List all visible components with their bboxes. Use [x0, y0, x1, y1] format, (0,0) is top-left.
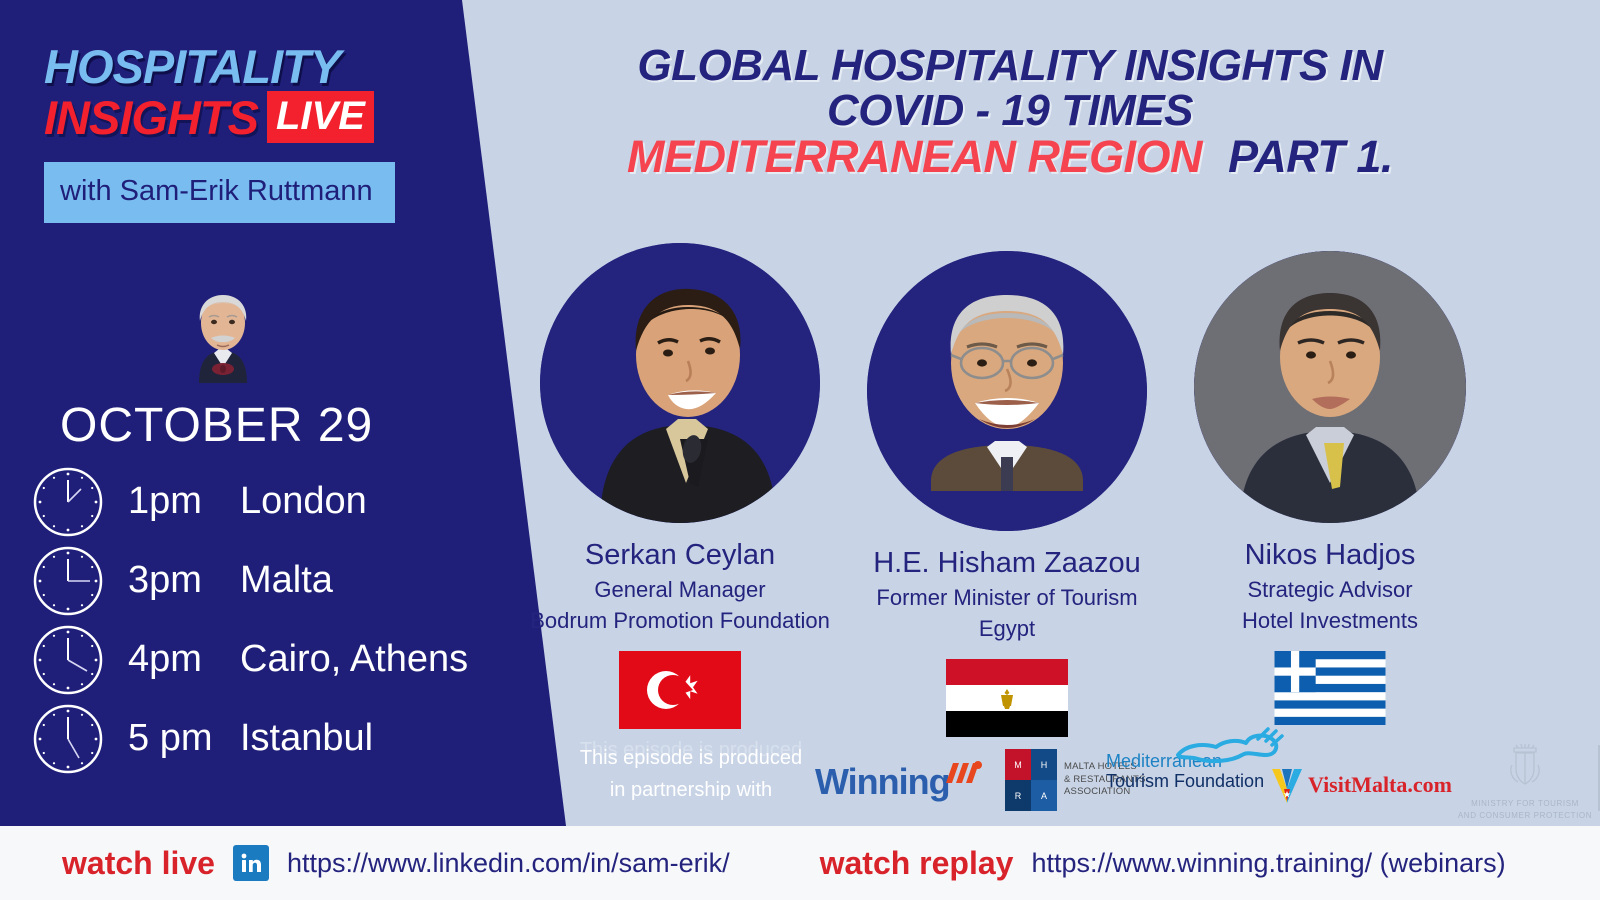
mhra-cell: H	[1031, 749, 1057, 780]
watch-live-group: watch live https://www.linkedin.com/in/s…	[62, 845, 730, 882]
mhra-cell: R	[1005, 780, 1031, 811]
timezone-row: 1pm London	[30, 462, 468, 541]
avatar	[1194, 251, 1466, 523]
avatar	[540, 243, 820, 523]
mediterranean-sea-icon	[1172, 725, 1284, 767]
ministry-logo: MINISTRY FOR TOURISM AND CONSUMER PROTEC…	[1450, 741, 1600, 822]
partnership-text: This episode is produced This episode is…	[576, 742, 806, 806]
speaker-role-line2: Bodrum Promotion Foundation	[530, 608, 830, 634]
ministry-line2: AND CONSUMER PROTECTION	[1450, 810, 1600, 822]
speaker-role-line1: General Manager	[530, 577, 830, 603]
ministry-logo-text: MINISTRY FOR TOURISM AND CONSUMER PROTEC…	[1450, 798, 1600, 822]
clock-icon	[30, 622, 106, 698]
winning-mark-icon	[946, 761, 982, 787]
avatar	[867, 251, 1147, 531]
live-badge: LIVE	[267, 91, 374, 143]
winning-logo: Winning	[815, 761, 982, 803]
greece-flag	[1270, 651, 1390, 725]
time-hour: 5 pm	[128, 717, 240, 760]
turkey-flag	[619, 651, 741, 729]
page-title: GLOBAL HOSPITALITY INSIGHTS IN COVID - 1…	[560, 44, 1460, 180]
watch-replay-group: watch replay https://www.winning.trainin…	[820, 845, 1506, 882]
speaker-role-line1: Former Minister of Tourism	[857, 585, 1157, 611]
mtf-line2: Tourism Foundation	[1106, 771, 1264, 791]
host-name-banner: with Sam-Erik Ruttmann	[44, 162, 395, 223]
malta-coat-of-arms-icon	[1450, 741, 1600, 789]
time-hour: 1pm	[128, 480, 240, 523]
speaker-role-line2: Hotel Investments	[1180, 608, 1480, 634]
headline-line-2: COVID - 19 TIMES	[560, 89, 1460, 134]
brand-logo: HOSPITALITY INSIGHTS LIVE with Sam-Erik …	[44, 44, 444, 223]
watch-replay-label: watch replay	[820, 845, 1014, 882]
brand-insights-row: INSIGHTS LIVE	[44, 91, 444, 143]
winning-logo-text: Winning	[815, 761, 950, 803]
time-city: Cairo, Athens	[240, 638, 468, 681]
time-city: Malta	[240, 559, 333, 602]
speaker-card: H.E. Hisham Zaazou Former Minister of To…	[857, 251, 1157, 742]
speaker-name: H.E. Hisham Zaazou	[857, 547, 1157, 580]
mhra-grid-icon: M H R A	[1005, 749, 1057, 811]
speaker-role-line2: Egypt	[857, 616, 1157, 642]
mhra-cell: A	[1031, 780, 1057, 811]
timezone-row: 5 pm Istanbul	[30, 699, 468, 778]
webinar-poster: HOSPITALITY INSIGHTS LIVE with Sam-Erik …	[0, 0, 1600, 900]
clock-icon	[30, 543, 106, 619]
timezone-row: 3pm Malta	[30, 541, 468, 620]
clock-icon	[30, 701, 106, 777]
brand-hospitality-text: HOSPITALITY	[44, 44, 444, 89]
speaker-name: Nikos Hadjos	[1180, 539, 1480, 572]
headline-part: PART 1.	[1228, 134, 1393, 180]
speaker-role-line1: Strategic Advisor	[1180, 577, 1480, 603]
partner-logo-strip: Winning M H R A MALTA HOTELS & RESTAURAN…	[810, 745, 1600, 823]
replay-url[interactable]: https://www.winning.training/ (webinars)	[1031, 848, 1505, 879]
mhra-cell: M	[1005, 749, 1031, 780]
partnership-line-2: in partnership with	[576, 774, 806, 806]
mediterranean-tourism-foundation-logo: Mediterranean Tourism Foundation	[1106, 751, 1264, 791]
time-city: Istanbul	[240, 717, 373, 760]
time-city: London	[240, 480, 367, 523]
brand-insights-text: INSIGHTS	[44, 95, 258, 140]
time-hour: 3pm	[128, 559, 240, 602]
speaker-card: Nikos Hadjos Strategic Advisor Hotel Inv…	[1180, 251, 1480, 730]
linkedin-icon[interactable]	[233, 845, 269, 881]
clock-icon	[30, 464, 106, 540]
time-hour: 4pm	[128, 638, 240, 681]
host-portrait	[173, 275, 273, 385]
timezone-list: 1pm London 3pm Malta	[30, 462, 468, 778]
headline-line-3: MEDITERRANEAN REGION PART 1.	[560, 134, 1460, 180]
watch-live-label: watch live	[62, 845, 215, 882]
egypt-flag	[946, 659, 1068, 737]
visitmalta-logo: VisitMalta.com	[1270, 767, 1452, 803]
ministry-line1: MINISTRY FOR TOURISM	[1450, 798, 1600, 810]
event-date: OCTOBER 29	[60, 398, 373, 453]
partnership-text-ghost: This episode is produced	[576, 734, 806, 766]
linkedin-url[interactable]: https://www.linkedin.com/in/sam-erik/	[287, 848, 730, 879]
speaker-name: Serkan Ceylan	[530, 539, 830, 572]
speaker-card: Serkan Ceylan General Manager Bodrum Pro…	[530, 243, 830, 734]
visitmalta-v-icon	[1270, 767, 1304, 803]
visitmalta-logo-text: VisitMalta.com	[1308, 772, 1452, 798]
timezone-row: 4pm Cairo, Athens	[30, 620, 468, 699]
headline-region: MEDITERRANEAN REGION	[627, 134, 1202, 180]
headline-line-1: GLOBAL HOSPITALITY INSIGHTS IN	[560, 44, 1460, 89]
footer-bar: watch live https://www.linkedin.com/in/s…	[0, 826, 1600, 900]
